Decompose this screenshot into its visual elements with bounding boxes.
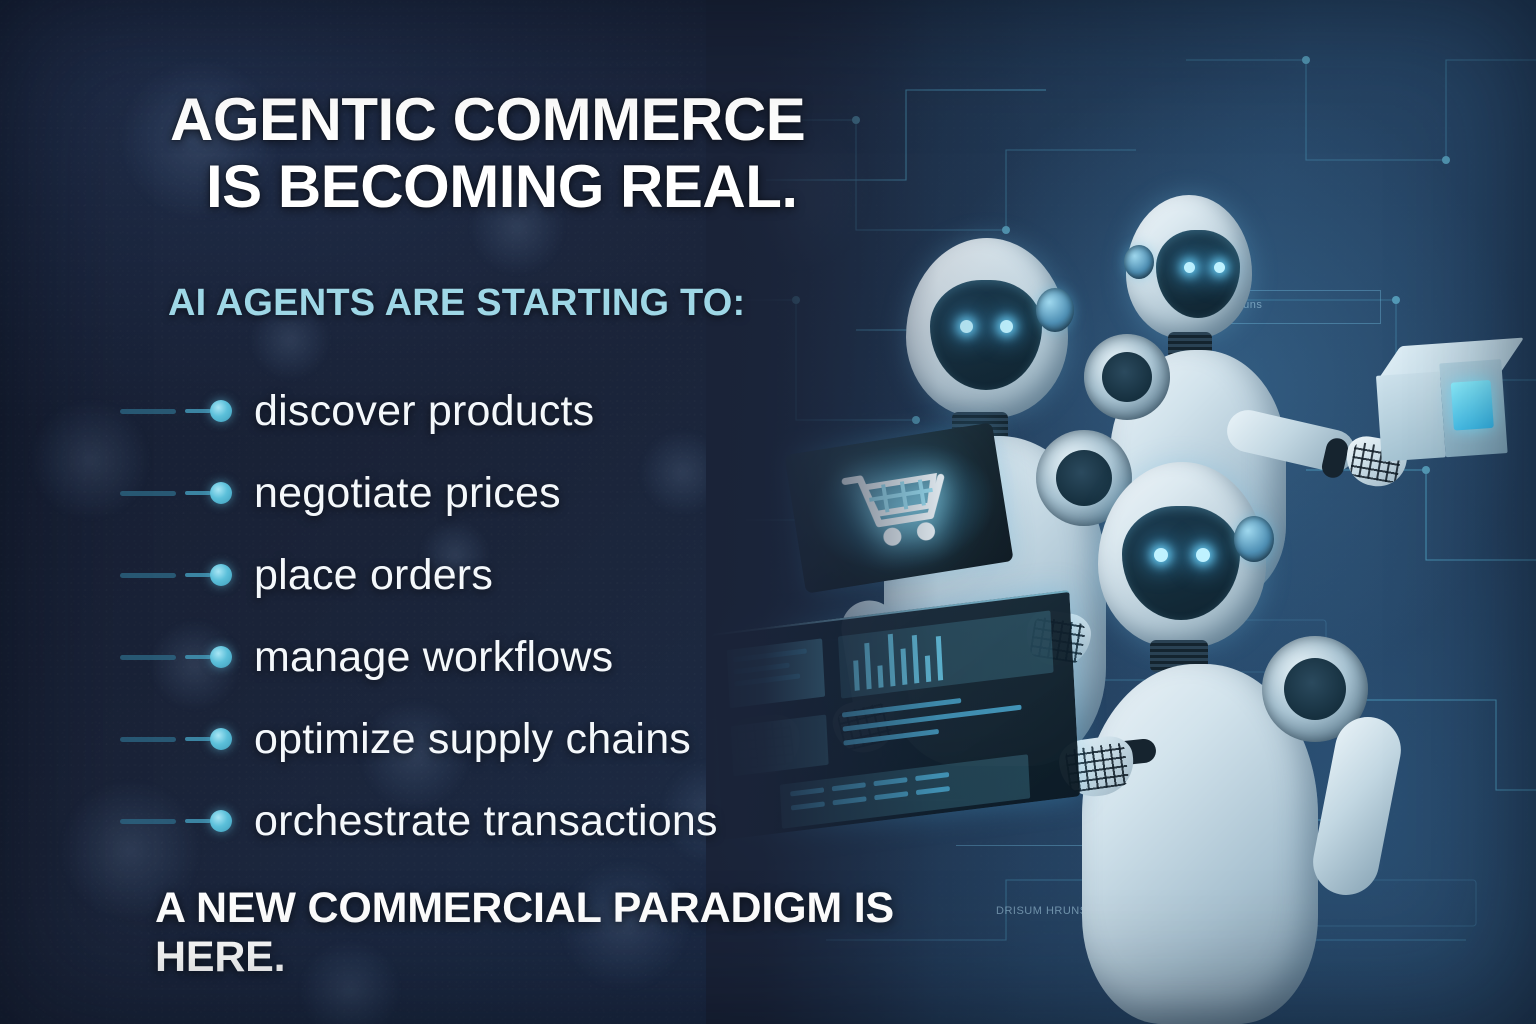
bullet-trace-icon	[120, 819, 176, 824]
text-content-block: AGENTIC COMMERCE IS BECOMING REAL. AI AG…	[0, 0, 900, 1024]
capability-list: discover products negotiate prices place…	[0, 370, 820, 862]
bullet-trace-icon	[120, 409, 176, 414]
bullet-dot-icon	[210, 646, 232, 668]
list-item: place orders	[0, 534, 820, 616]
bullet-dot-icon	[210, 564, 232, 586]
capability-label: discover products	[254, 387, 594, 436]
bullet-connector-icon	[185, 655, 211, 659]
bullet-trace-icon	[120, 737, 176, 742]
list-item: manage workflows	[0, 616, 820, 698]
bullet-trace-icon	[120, 655, 176, 660]
bullet-connector-icon	[185, 573, 211, 577]
list-item: optimize supply chains	[0, 698, 820, 780]
bullet-connector-icon	[185, 819, 211, 823]
capability-label: optimize supply chains	[254, 715, 691, 764]
capability-label: manage workflows	[254, 633, 613, 682]
capability-label: negotiate prices	[254, 469, 561, 518]
bullet-connector-icon	[185, 491, 211, 495]
list-item: negotiate prices	[0, 452, 820, 534]
list-item: discover products	[0, 370, 820, 452]
headline-line-2: IS BECOMING REAL.	[170, 153, 870, 220]
bullet-trace-icon	[120, 573, 176, 578]
bullet-dot-icon	[210, 810, 232, 832]
bullet-trace-icon	[120, 491, 176, 496]
headline-line-1: AGENTIC COMMERCE	[170, 86, 805, 153]
page-title: AGENTIC COMMERCE IS BECOMING REAL.	[170, 86, 870, 220]
footer-tagline: A NEW COMMERCIAL PARADIGM IS HERE.	[155, 884, 900, 982]
bullet-connector-icon	[185, 409, 211, 413]
bullet-dot-icon	[210, 482, 232, 504]
capability-label: place orders	[254, 551, 493, 600]
bullet-dot-icon	[210, 728, 232, 750]
bullet-dot-icon	[210, 400, 232, 422]
poster-canvas: DnoowUuns DRISUM HRUNS	[0, 0, 1536, 1024]
subheading: AI AGENTS ARE STARTING TO:	[168, 282, 745, 325]
bullet-connector-icon	[185, 737, 211, 741]
capability-label: orchestrate transactions	[254, 797, 718, 846]
list-item: orchestrate transactions	[0, 780, 820, 862]
